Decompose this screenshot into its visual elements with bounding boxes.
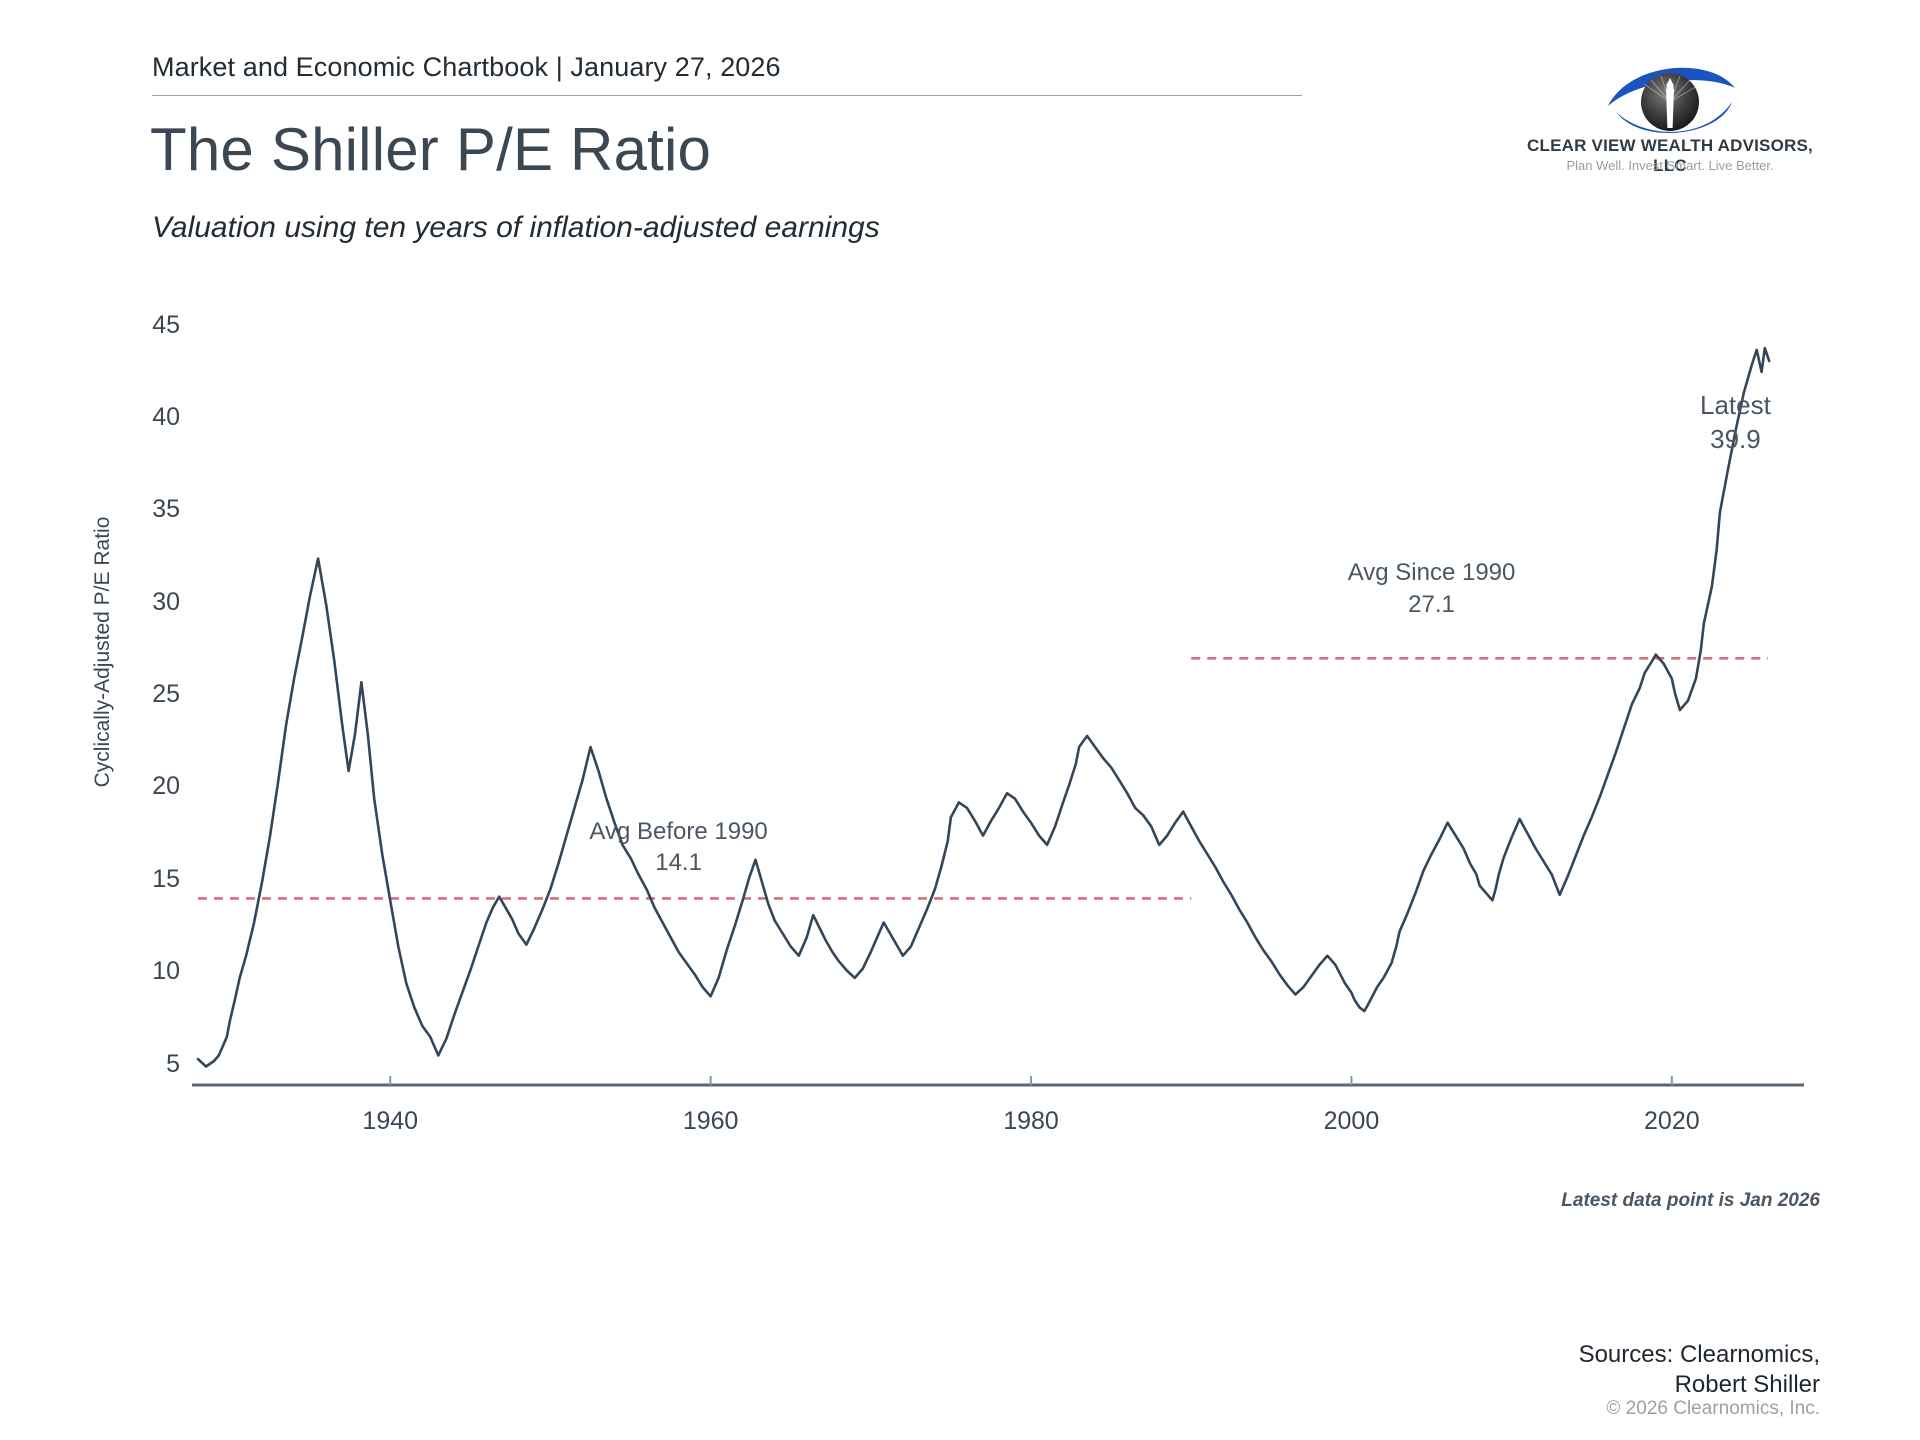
annotation-avg-before-value: 14.1 <box>529 847 829 879</box>
sources-line-1: Sources: Clearnomics, <box>1420 1340 1820 1370</box>
annotation-latest-value: 39.9 <box>1700 422 1771 456</box>
series-line-shiller-pe <box>198 348 1769 1067</box>
latest-data-note: Latest data point is Jan 2026 <box>1520 1190 1820 1212</box>
annotation-avg-since-1990: Avg Since 1990 27.1 <box>1282 557 1582 620</box>
annotation-latest-label: Latest <box>1700 388 1771 422</box>
annotation-avg-before-label: Avg Before 1990 <box>529 816 829 848</box>
annotation-avg-before-1990: Avg Before 1990 14.1 <box>529 816 829 879</box>
sources-line-2: Robert Shiller <box>1420 1370 1820 1400</box>
annotation-latest: Latest 39.9 <box>1700 388 1771 457</box>
chart-svg <box>0 0 1920 1440</box>
annotation-avg-since-value: 27.1 <box>1282 589 1582 621</box>
annotation-avg-since-label: Avg Since 1990 <box>1282 557 1582 589</box>
chart-area: Cyclically-Adjusted P/E Ratio 5101520253… <box>0 0 1920 1440</box>
sources: Sources: Clearnomics, Robert Shiller <box>1420 1340 1820 1400</box>
copyright: © 2026 Clearnomics, Inc. <box>1420 1398 1820 1420</box>
